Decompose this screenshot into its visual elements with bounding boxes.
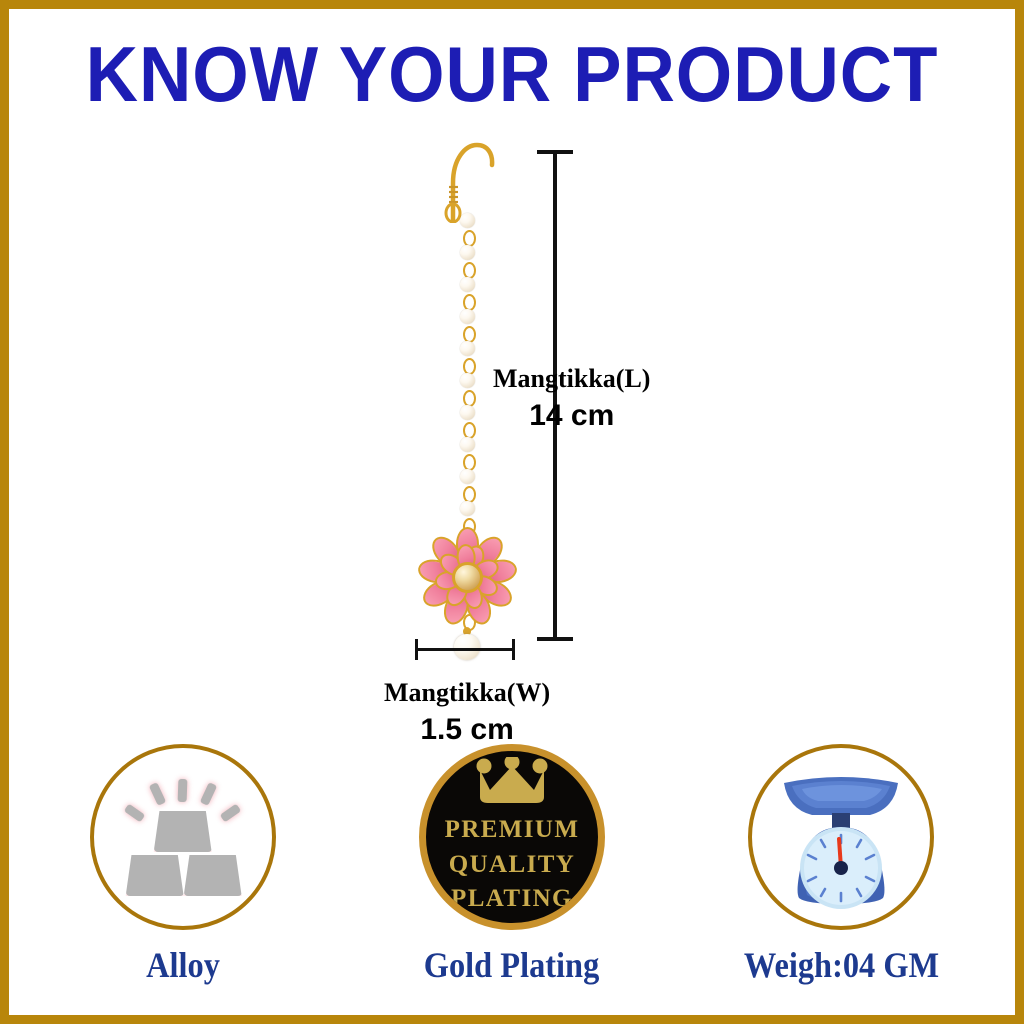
length-dimension-cap-bottom <box>537 637 573 641</box>
width-dimension-label: Mangtikka(W) 1.5 cm <box>384 675 550 751</box>
badge-weight-circle <box>748 744 934 930</box>
width-dimension-line <box>415 648 515 651</box>
badge-material-circle <box>90 744 276 930</box>
feature-badges: Alloy PREMIUM QUALITY PLATING Gold Plati… <box>18 744 1006 1009</box>
metal-bars-icon <box>118 777 248 897</box>
length-label-value: 14 cm <box>493 396 650 437</box>
pearl-drop-icon <box>454 634 480 660</box>
seal-line-1: PREMIUM <box>445 813 580 848</box>
badge-plating: PREMIUM QUALITY PLATING Gold Plating <box>362 744 662 986</box>
badge-plating-label: Gold Plating <box>424 944 600 986</box>
seal-line-2: QUALITY <box>449 848 576 883</box>
center-stone-icon <box>452 562 483 593</box>
ear-wire-hook-icon <box>443 137 497 223</box>
product-infographic: KNOW YOUR PRODUCT <box>0 0 1024 1024</box>
width-dimension-cap-right <box>512 639 515 660</box>
length-label-text: Mangtikka(L) <box>493 364 650 393</box>
badge-weight: Weigh:04 GM <box>691 744 991 986</box>
badge-plating-circle: PREMIUM QUALITY PLATING <box>419 744 605 930</box>
badge-material: Alloy <box>33 744 333 986</box>
page-title: KNOW YOUR PRODUCT <box>44 35 980 113</box>
badge-weight-label: Weigh:04 GM <box>744 944 939 986</box>
seal-line-3: PLATING <box>451 882 573 917</box>
length-dimension-label: Mangtikka(L) 14 cm <box>493 361 650 437</box>
crown-icon <box>474 757 550 807</box>
weighing-scale-icon <box>766 765 916 910</box>
badge-material-label: Alloy <box>146 944 220 986</box>
width-label-text: Mangtikka(W) <box>384 678 550 707</box>
pink-flower-pendant-icon <box>410 522 524 632</box>
